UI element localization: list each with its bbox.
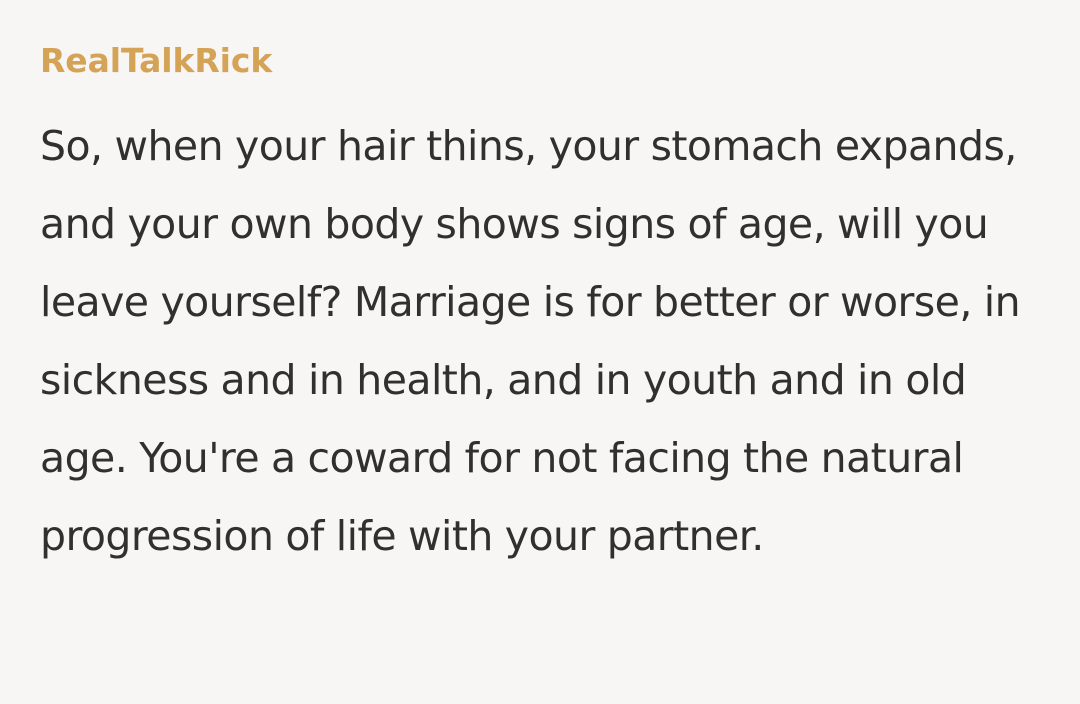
- post-container: RealTalkRick So, when your hair thins, y…: [0, 0, 1080, 704]
- post-body-text: So, when your hair thins, your stomach e…: [40, 107, 1040, 575]
- post-author-name[interactable]: RealTalkRick: [40, 44, 1040, 77]
